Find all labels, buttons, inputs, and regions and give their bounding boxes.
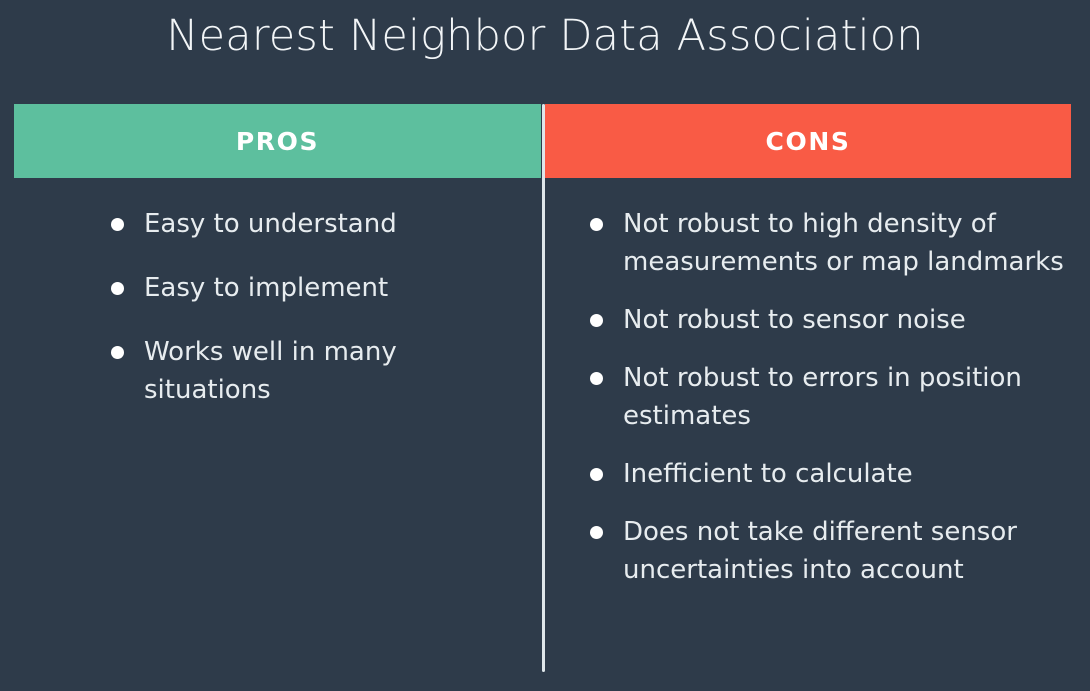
bullet-dot-icon — [590, 218, 603, 231]
cons-header-label: CONS — [766, 127, 851, 156]
bullet-dot-icon — [590, 372, 603, 385]
list-item-label: Easy to understand — [144, 205, 525, 243]
cons-list: Not robust to high density of measuremen… — [584, 205, 1074, 589]
comparison-columns: Easy to understand Easy to implement Wor… — [0, 205, 1090, 691]
list-item-label: Does not take different sensor uncertain… — [623, 513, 1074, 589]
bullet-dot-icon — [590, 526, 603, 539]
pros-header-bar: PROS — [14, 104, 541, 178]
bullet-dot-icon — [111, 282, 124, 295]
pros-column: Easy to understand Easy to implement Wor… — [105, 205, 525, 435]
list-item: Easy to implement — [105, 269, 525, 307]
list-item: Easy to understand — [105, 205, 525, 243]
bullet-dot-icon — [111, 346, 124, 359]
pros-list: Easy to understand Easy to implement Wor… — [105, 205, 525, 409]
list-item-label: Easy to implement — [144, 269, 525, 307]
list-item-label: Not robust to sensor noise — [623, 301, 1074, 339]
cons-header-bar: CONS — [545, 104, 1071, 178]
bullet-dot-icon — [590, 314, 603, 327]
list-item: Not robust to errors in position estimat… — [584, 359, 1074, 435]
bullet-dot-icon — [590, 468, 603, 481]
slide-root: Nearest Neighbor Data Association PROS C… — [0, 0, 1090, 691]
bullet-dot-icon — [111, 218, 124, 231]
list-item: Not robust to sensor noise — [584, 301, 1074, 339]
list-item-label: Not robust to errors in position estimat… — [623, 359, 1074, 435]
list-item: Works well in many situations — [105, 333, 525, 409]
list-item-label: Works well in many situations — [144, 333, 525, 409]
pros-header-label: PROS — [236, 127, 319, 156]
list-item-label: Not robust to high density of measuremen… — [623, 205, 1074, 281]
list-item: Does not take different sensor uncertain… — [584, 513, 1074, 589]
page-title: Nearest Neighbor Data Association — [0, 8, 1090, 64]
list-item: Inefficient to calculate — [584, 455, 1074, 493]
list-item-label: Inefficient to calculate — [623, 455, 1074, 493]
cons-column: Not robust to high density of measuremen… — [584, 205, 1074, 609]
list-item: Not robust to high density of measuremen… — [584, 205, 1074, 281]
